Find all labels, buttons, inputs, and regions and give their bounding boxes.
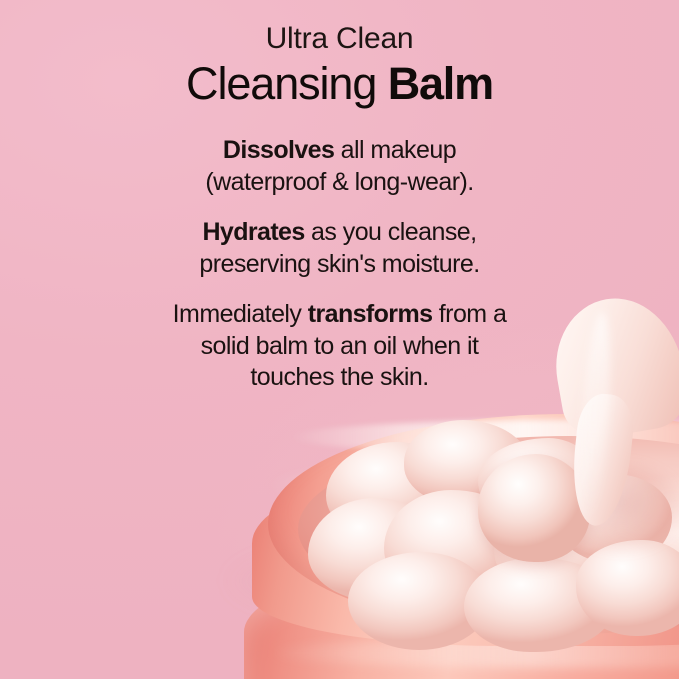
benefit-item: Immediately transforms from asolid balm … bbox=[96, 299, 583, 394]
title-strong: Balm bbox=[388, 58, 493, 109]
eyebrow-text: Ultra Clean bbox=[0, 0, 679, 56]
page-title: Cleansing Balm bbox=[0, 56, 679, 109]
benefit-lead: transforms bbox=[308, 300, 433, 328]
benefit-rest: all makeup bbox=[334, 136, 456, 164]
benefit-line2: preserving skin's moisture. bbox=[199, 250, 479, 278]
benefit-line2: solid balm to an oil when it bbox=[201, 332, 479, 360]
benefit-rest: as you cleanse, bbox=[305, 218, 477, 246]
benefit-item: Hydrates as you cleanse,preserving skin'… bbox=[96, 217, 583, 280]
product-poster: Ultra Clean Cleansing Balm Dissolves all… bbox=[0, 0, 679, 679]
benefit-rest: from a bbox=[432, 300, 506, 328]
text-block: Ultra Clean Cleansing Balm Dissolves all… bbox=[0, 0, 679, 394]
title-regular: Cleansing bbox=[186, 58, 388, 109]
benefit-lead: Hydrates bbox=[202, 218, 304, 246]
benefit-item: Dissolves all makeup(waterproof & long-w… bbox=[96, 135, 583, 198]
benefits-list: Dissolves all makeup(waterproof & long-w… bbox=[0, 109, 679, 394]
benefit-line3: touches the skin. bbox=[250, 363, 428, 391]
benefit-pre: Immediately bbox=[173, 300, 308, 328]
benefit-line2: (waterproof & long-wear). bbox=[205, 168, 473, 196]
benefit-lead: Dissolves bbox=[223, 136, 334, 164]
